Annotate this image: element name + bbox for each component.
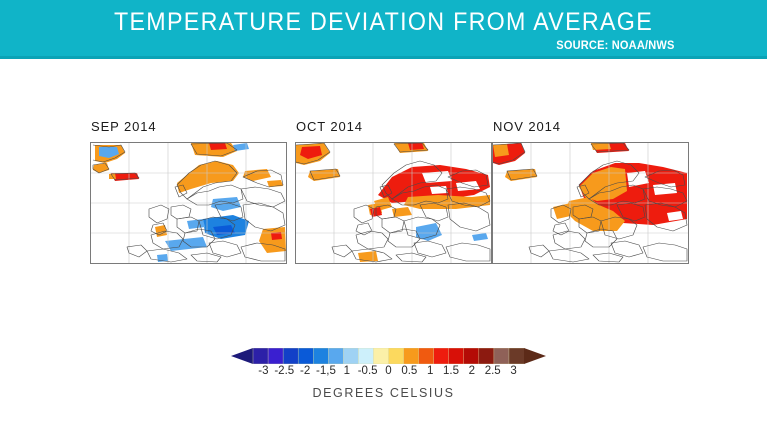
colorbar-tick-label: 1 — [344, 365, 350, 377]
legend: -3-2.5-2-1,51-0.500.511.522.53 DEGREES C… — [0, 344, 767, 414]
colorbar-segment — [373, 348, 388, 364]
colorbar-segment — [479, 348, 494, 364]
map-panel-sep-2014: SEP 2014 — [90, 142, 287, 264]
colorbar-svg — [231, 348, 546, 364]
colorbar-tick-label: 1.5 — [443, 365, 459, 377]
colorbar-axis-label: DEGREES CELSIUS — [0, 386, 767, 400]
map-panel-title: NOV 2014 — [493, 119, 561, 134]
colorbar — [231, 348, 546, 364]
colorbar-segment — [343, 348, 358, 364]
colorbar-segment — [268, 348, 283, 364]
colorbar-segment — [358, 348, 373, 364]
colorbar-segment — [283, 348, 298, 364]
map-sep-2014 — [91, 143, 286, 263]
colorbar-segment — [494, 348, 509, 364]
colorbar-tick-label: 2.5 — [485, 365, 501, 377]
colorbar-tick-label: 0.5 — [401, 365, 417, 377]
page-title: TEMPERATURE DEVIATION FROM AVERAGE — [27, 8, 740, 37]
colorbar-segment — [449, 348, 464, 364]
colorbar-tick-labels: -3-2.5-2-1,51-0.500.511.522.53 — [231, 365, 546, 381]
colorbar-tick-label: 0 — [385, 365, 391, 377]
colorbar-segment — [404, 348, 419, 364]
colorbar-tick-label: -0.5 — [358, 365, 378, 377]
source-attribution: SOURCE: NOAA/NWS — [557, 38, 675, 52]
colorbar-tick-label: -2.5 — [274, 365, 294, 377]
colorbar-segment — [509, 348, 524, 364]
colorbar-segment — [328, 348, 343, 364]
anomaly-fills — [296, 143, 490, 262]
colorbar-tick-label: 1 — [427, 365, 433, 377]
map-panel-title: OCT 2014 — [296, 119, 363, 134]
map-panel-oct-2014: OCT 2014 — [295, 142, 492, 264]
colorbar-max-arrow — [524, 348, 546, 364]
colorbar-min-arrow — [231, 348, 253, 364]
colorbar-segment — [298, 348, 313, 364]
colorbar-tick-label: 3 — [510, 365, 516, 377]
colorbar-segment — [313, 348, 328, 364]
colorbar-tick-label: -3 — [258, 365, 268, 377]
colorbar-segment — [419, 348, 434, 364]
map-frame — [492, 142, 689, 264]
maps-row: SEP 2014 — [0, 118, 767, 268]
map-panel-title: SEP 2014 — [91, 119, 157, 134]
map-frame — [90, 142, 287, 264]
colorbar-segment — [253, 348, 268, 364]
colorbar-tick-label: -2 — [300, 365, 310, 377]
colorbar-segment — [434, 348, 449, 364]
anomaly-fills — [93, 143, 286, 262]
colorbar-segment — [389, 348, 404, 364]
map-nov-2014 — [493, 143, 688, 263]
header-banner: TEMPERATURE DEVIATION FROM AVERAGE SOURC… — [0, 0, 767, 59]
map-oct-2014 — [296, 143, 491, 263]
colorbar-segment — [464, 348, 479, 364]
map-frame — [295, 142, 492, 264]
map-panel-nov-2014: NOV 2014 — [492, 142, 689, 264]
colorbar-tick-label: -1,5 — [316, 365, 336, 377]
colorbar-tick-label: 2 — [469, 365, 475, 377]
